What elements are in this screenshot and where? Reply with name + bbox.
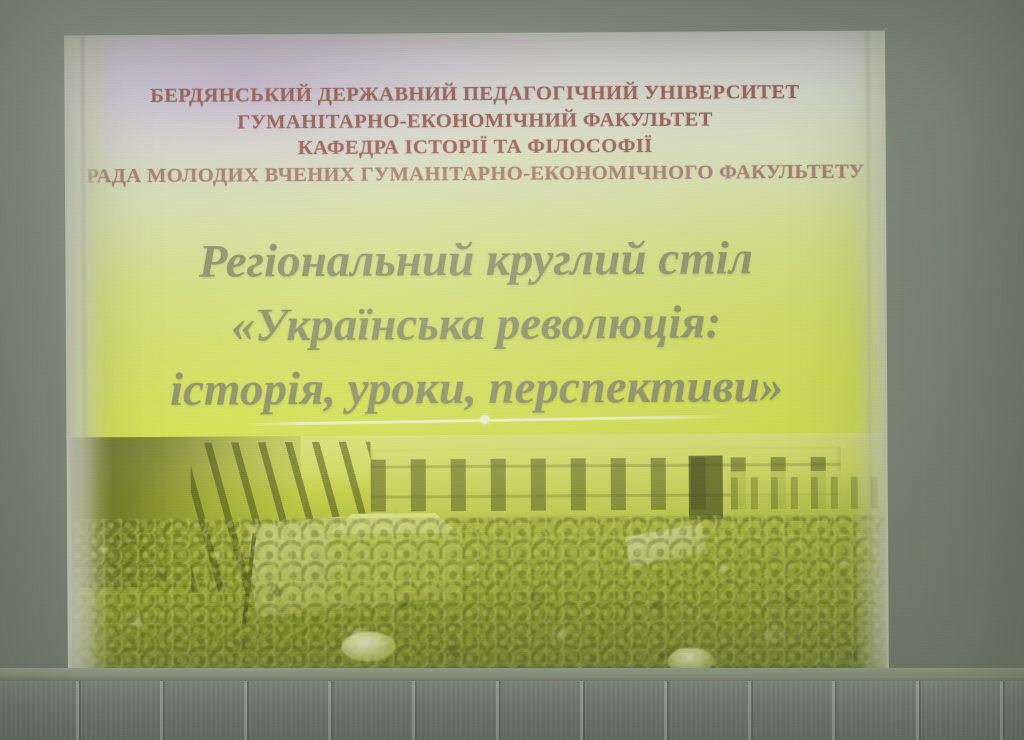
header-line-university: БЕРДЯНСЬКИЙ ДЕРЖАВНИЙ ПЕДАГОГІЧНИЙ УНІВЕ…	[64, 78, 885, 110]
slide-title-block: Регіональний круглий стіл «Українська ре…	[65, 226, 887, 423]
slide-header-block: БЕРДЯНСЬКИЙ ДЕРЖАВНИЙ ПЕДАГОГІЧНИЙ УНІВЕ…	[64, 78, 886, 190]
slide-torn-left-edge	[64, 35, 114, 687]
room-photo-scene: БЕРДЯНСЬКИЙ ДЕРЖАВНИЙ ПЕДАГОГІЧНИЙ УНІВЕ…	[0, 0, 1024, 740]
title-line-1: Регіональний круглий стіл	[65, 226, 886, 295]
slide-historical-photo	[70, 433, 887, 688]
photo-building-archway	[689, 455, 723, 519]
title-decorative-dot	[480, 415, 489, 424]
header-line-young-scientists-council: РАДА МОЛОДИХ ВЧЕНИХ ГУМАНІТАРНО-ЕКОНОМІЧ…	[65, 158, 886, 190]
title-line-3: історія, уроки, перспективи»	[66, 354, 887, 423]
wall-panelling-seams	[0, 681, 1024, 740]
projected-slide: БЕРДЯНСЬКИЙ ДЕРЖАВНИЙ ПЕДАГОГІЧНИЙ УНІВЕ…	[64, 30, 889, 687]
photo-crowd-depth-shading	[71, 515, 887, 688]
title-line-2: «Українська революція:	[66, 290, 887, 359]
wall-trim-strip	[0, 668, 1024, 682]
photo-highlight-figure-left	[342, 631, 396, 661]
slide-torn-right-edge	[851, 30, 889, 682]
